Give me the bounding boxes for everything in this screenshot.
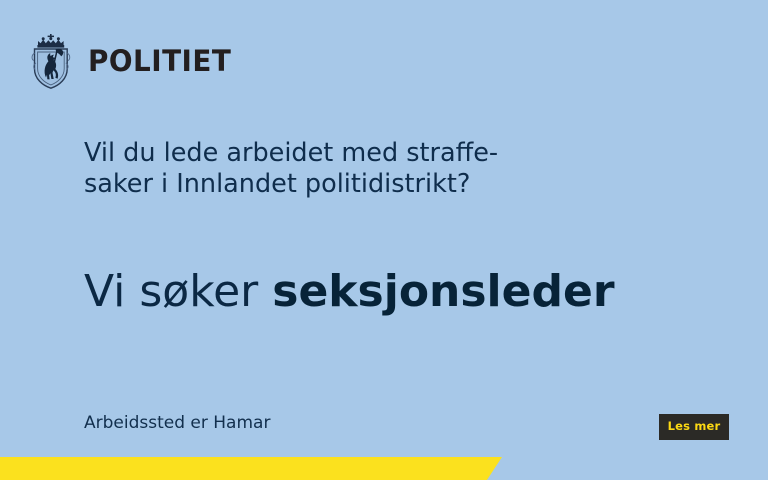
brand-wordmark: POLITIET <box>88 47 231 76</box>
norwegian-coat-of-arms-icon <box>26 33 76 89</box>
location-note: Arbeidssted er Hamar <box>84 412 270 434</box>
headline-lead: Vi søker <box>84 266 272 317</box>
job-ad-banner: POLITIET Vil du lede arbeidet med straff… <box>0 0 768 480</box>
read-more-button-label: Les mer <box>668 421 721 433</box>
main-headline: Vi søker seksjonsleder <box>84 266 615 318</box>
headline-emphasis: seksjonsleder <box>272 266 614 317</box>
yellow-accent-bar <box>0 457 502 480</box>
brand-logo-lockup: POLITIET <box>26 33 237 89</box>
read-more-button[interactable]: Les mer <box>659 414 729 440</box>
headline-question: Vil du lede arbeidet med straffe- saker … <box>84 138 644 200</box>
